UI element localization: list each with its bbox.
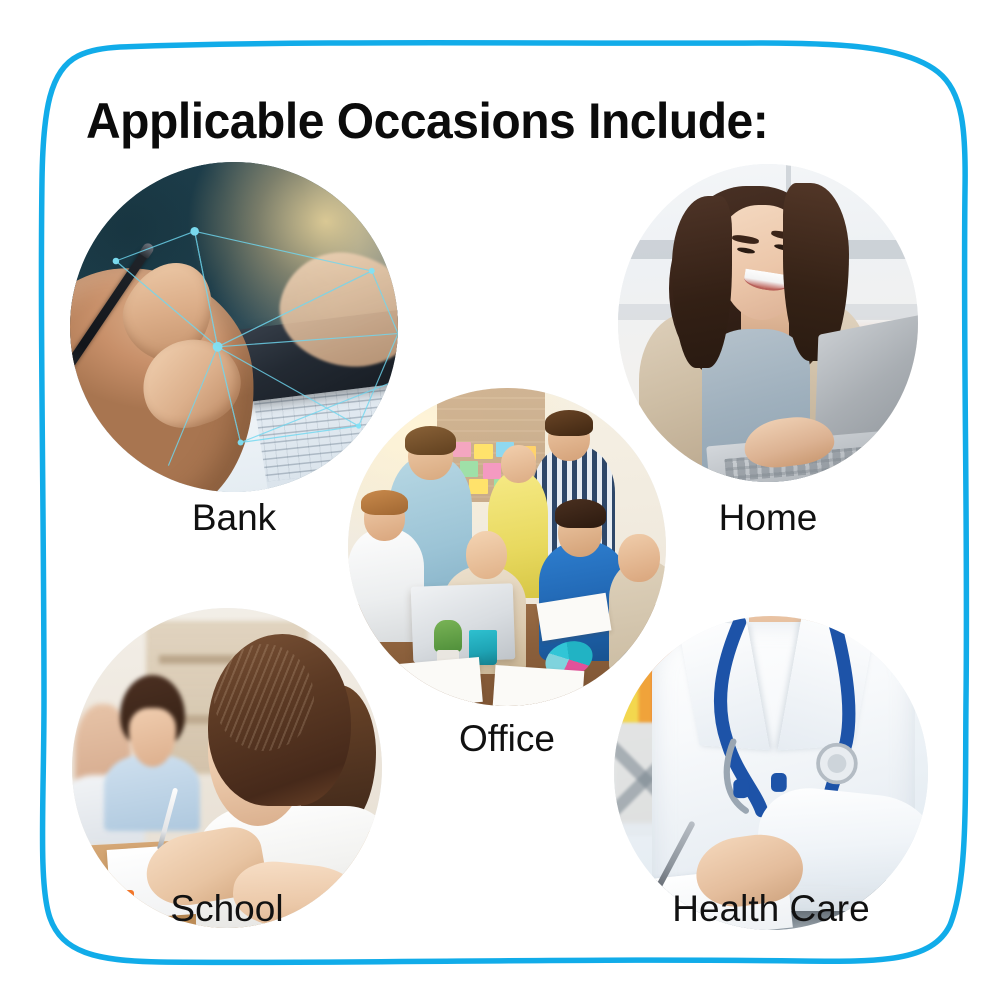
- office-laptop: [410, 583, 514, 663]
- school-girl-hair: [208, 634, 351, 807]
- office-desk-plant: [434, 620, 463, 652]
- school-photo-scene: [72, 608, 382, 928]
- caption-health-care: Health Care: [614, 888, 928, 930]
- office-chart-paper-2: [493, 665, 585, 706]
- caption-school: School: [72, 888, 382, 930]
- office-head-6: [466, 531, 507, 579]
- health-care-photo-scene: [614, 616, 928, 930]
- office-head-3: [501, 445, 536, 483]
- office-head-7: [618, 534, 659, 582]
- page-title: Applicable Occasions Include:: [86, 92, 768, 150]
- school-classmate-near: [115, 675, 189, 803]
- office-chart-paper-1: [384, 657, 483, 706]
- office-hair-1: [405, 426, 456, 455]
- poster-canvas: Applicable Occasions Include:: [0, 0, 1000, 1000]
- home-hair-left: [672, 196, 732, 368]
- office-hair-4: [361, 490, 409, 515]
- school-photo: [72, 608, 382, 928]
- office-hair-2: [545, 410, 593, 435]
- office-hair-5: [555, 499, 606, 528]
- health-care-photo: [614, 616, 928, 930]
